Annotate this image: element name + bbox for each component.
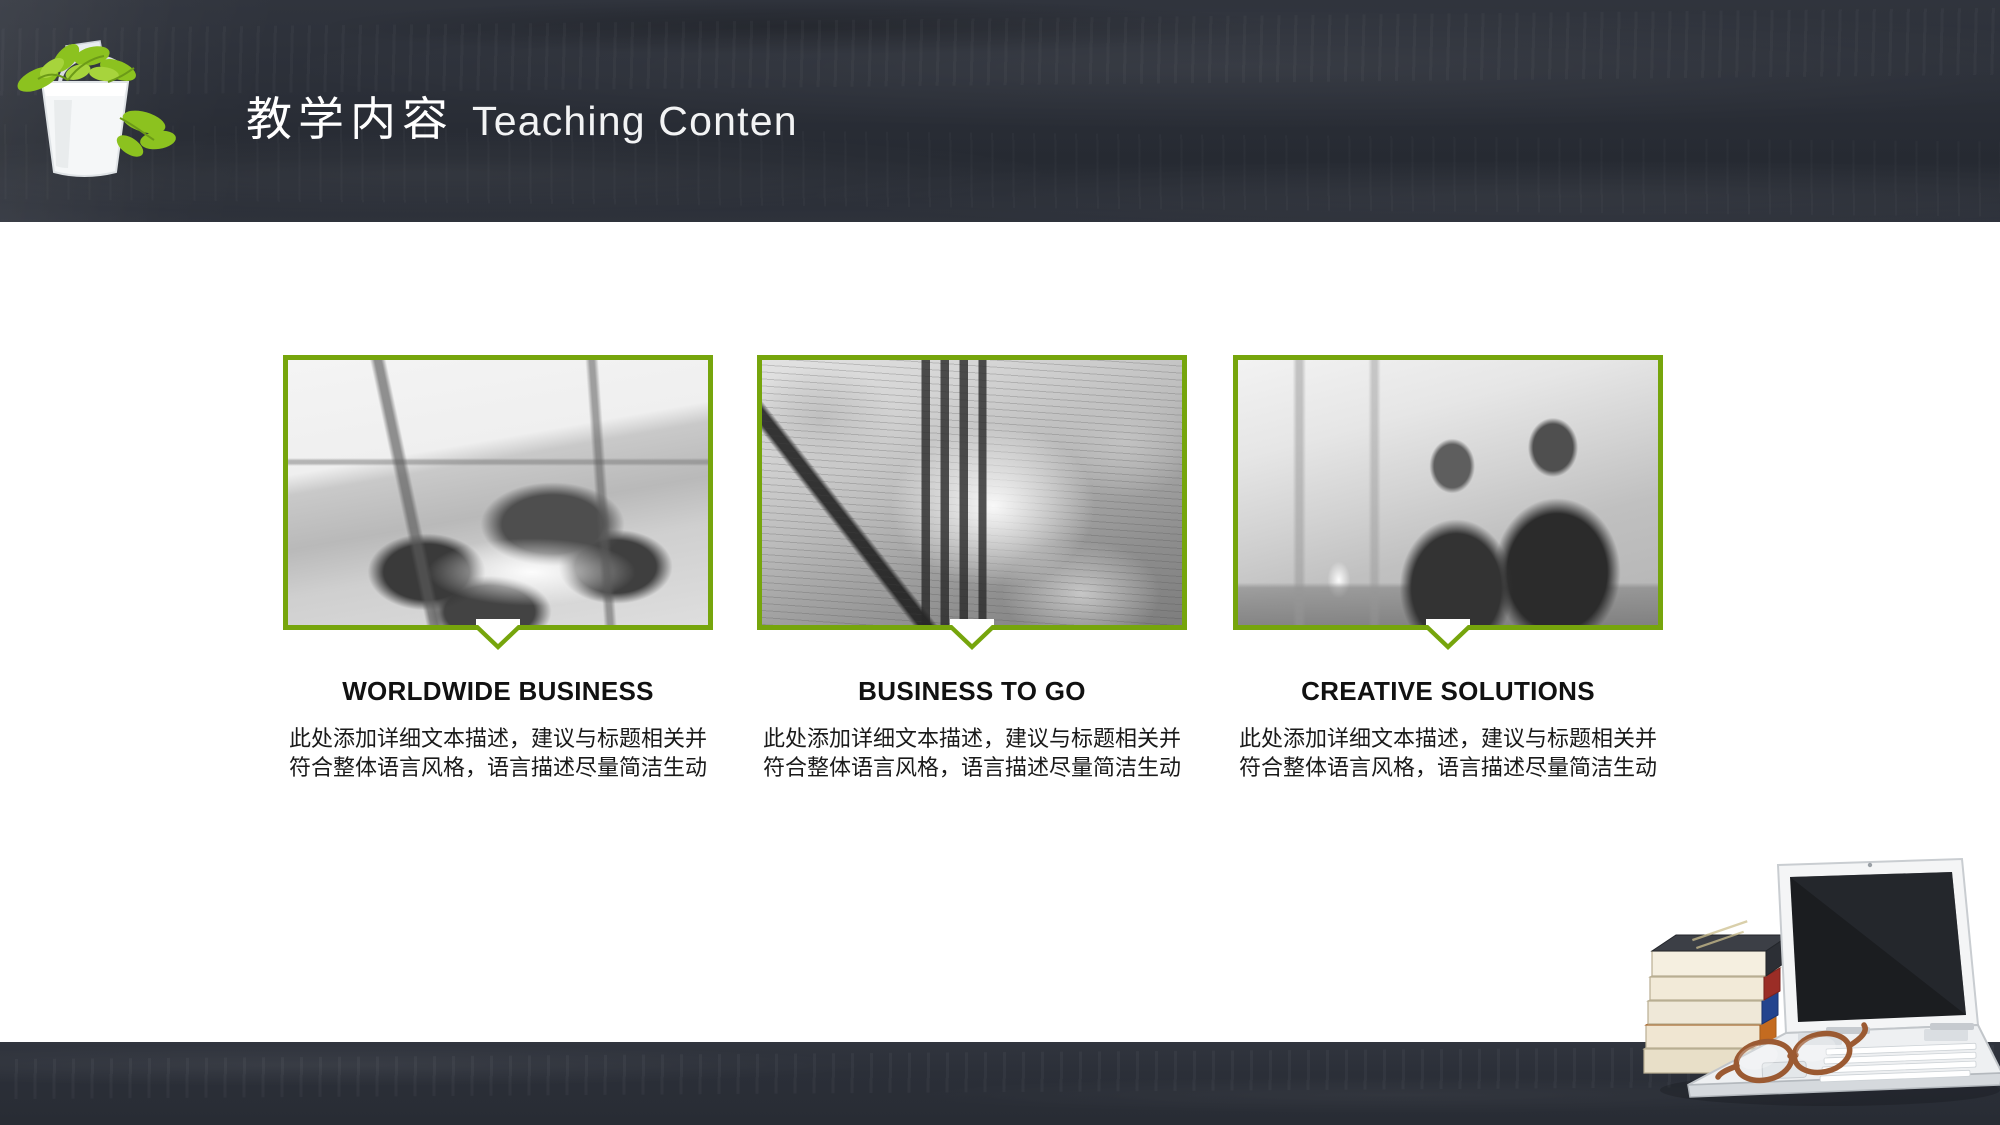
card-title: BUSINESS TO GO [757, 676, 1187, 707]
photo-frame [757, 355, 1187, 630]
speech-pointer [1233, 630, 1663, 652]
speech-pointer [757, 630, 1187, 652]
photo-meeting [288, 360, 708, 625]
notch-mask [476, 619, 520, 625]
photo-frame [283, 355, 713, 630]
card-title: CREATIVE SOLUTIONS [1233, 676, 1663, 707]
photo-frame [1233, 355, 1663, 630]
pointer-inner-triangle [1426, 623, 1470, 644]
pointer-inner-triangle [950, 623, 994, 644]
speech-pointer [283, 630, 713, 652]
card-body: 此处添加详细文本描述，建议与标题相关并符合整体语言风格，语言描述尽量简洁生动 [1233, 724, 1663, 783]
notch-mask [950, 619, 994, 625]
content-card[interactable]: WORLDWIDE BUSINESS 此处添加详细文本描述，建议与标题相关并符合… [283, 355, 713, 783]
pointer-inner-triangle [476, 623, 520, 644]
page-title-cn: 教学内容 [246, 96, 454, 142]
notch-mask [1426, 619, 1470, 625]
card-body: 此处添加详细文本描述，建议与标题相关并符合整体语言风格，语言描述尽量简洁生动 [757, 724, 1187, 783]
card-title: WORLDWIDE BUSINESS [283, 676, 713, 707]
page-title-en: Teaching Conten [472, 101, 798, 142]
slide-canvas: 教学内容 Teaching Conten WORLDWIDE BUSINESS … [0, 0, 2000, 1125]
page-title: 教学内容 Teaching Conten [246, 96, 798, 142]
content-card[interactable]: CREATIVE SOLUTIONS 此处添加详细文本描述，建议与标题相关并符合… [1233, 355, 1663, 783]
photo-men [1238, 360, 1658, 625]
potted-plant-bucket-icon [8, 22, 208, 182]
photo-charts [762, 360, 1182, 625]
card-body: 此处添加详细文本描述，建议与标题相关并符合整体语言风格，语言描述尽量简洁生动 [283, 724, 713, 783]
content-card[interactable]: BUSINESS TO GO 此处添加详细文本描述，建议与标题相关并符合整体语言… [757, 355, 1187, 783]
laptop-books-glasses-icon [1630, 835, 2000, 1125]
